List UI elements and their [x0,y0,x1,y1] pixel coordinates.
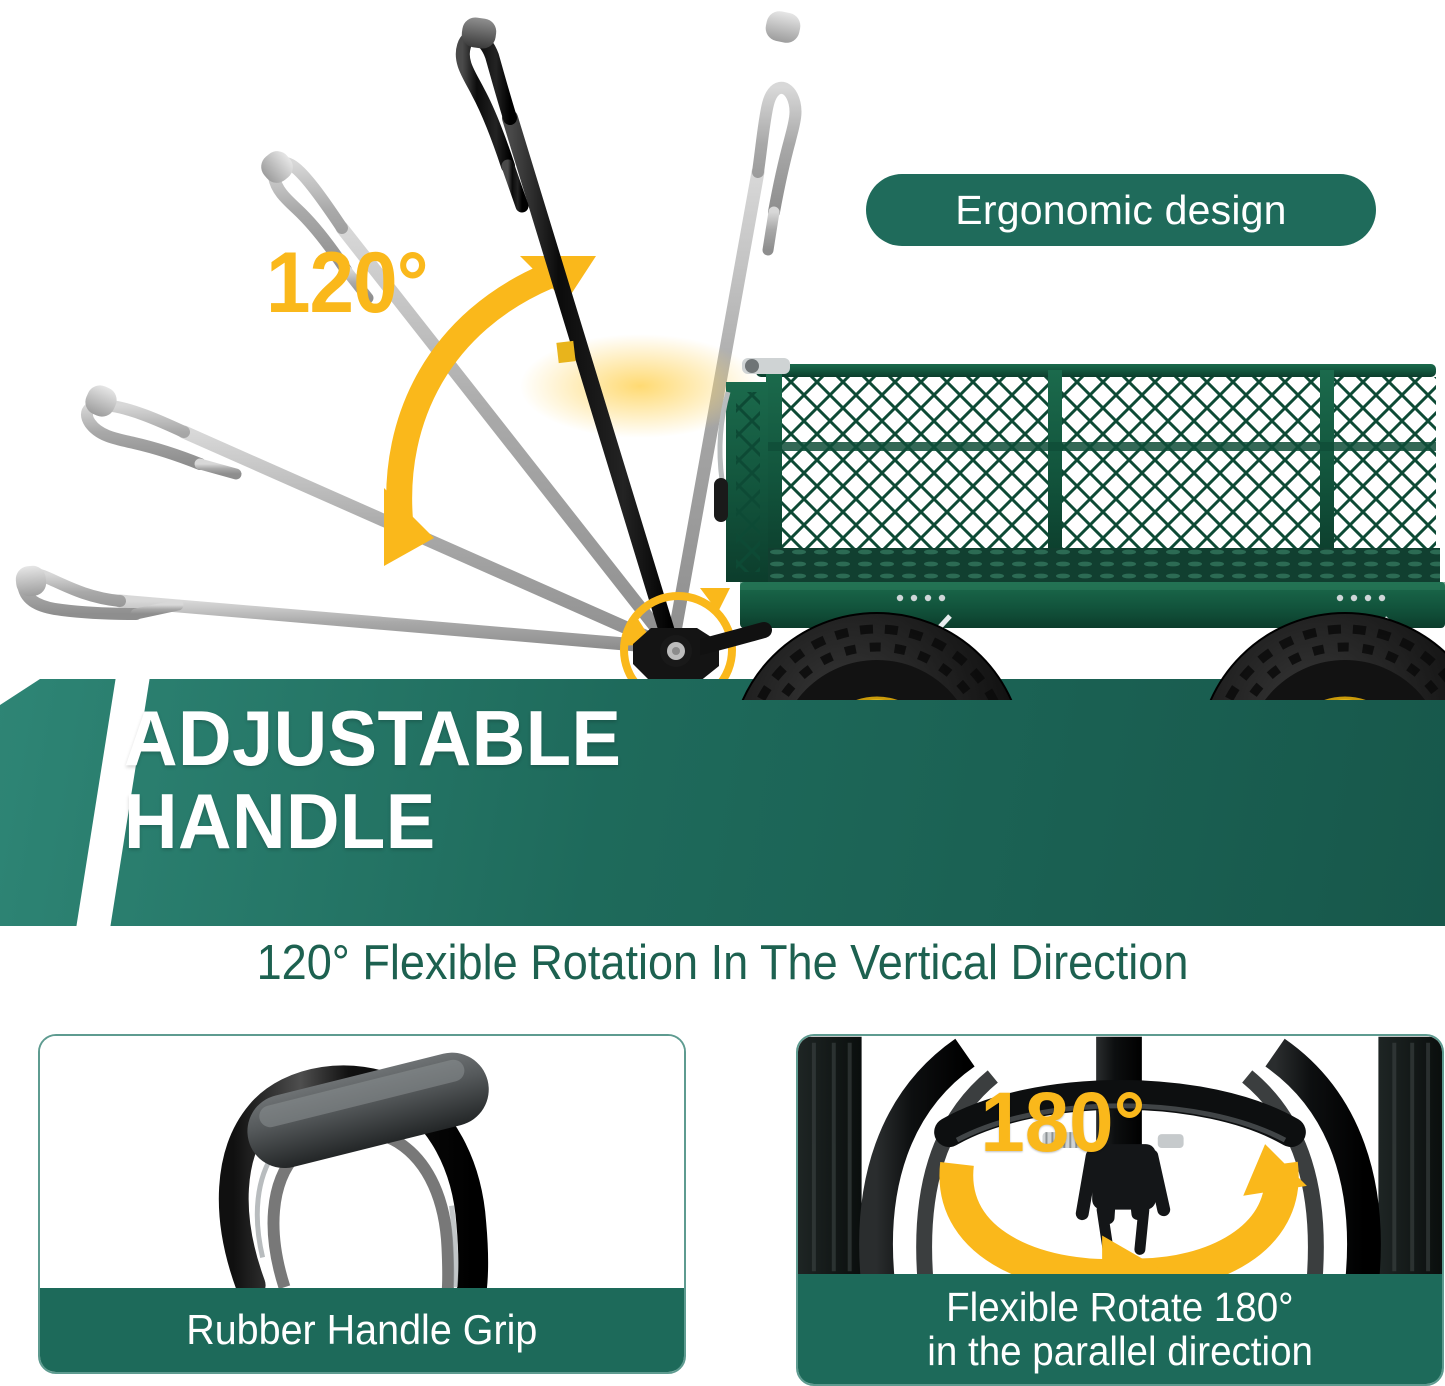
banner-title-line1: ADJUSTABLE [124,700,621,777]
card-flexible-rotate-180: 180° Flexible Rotate 180° in the paralle… [796,1034,1444,1386]
ergonomic-design-badge: Ergonomic design [866,174,1376,246]
wheel-front [730,613,1024,700]
cart-wheels [700,560,1445,700]
card-rubber-handle-grip: Rubber Handle Grip [38,1034,686,1374]
banner-title: ADJUSTABLE HANDLE [124,700,648,860]
card-left-caption-line1: Rubber Handle Grip [186,1306,537,1354]
card-right-caption-line2: in the parallel direction [927,1329,1313,1373]
handle-grip-photo [40,1036,684,1294]
product-infographic: 120° Ergonomic design [0,0,1445,1386]
angle-label-120: 120° [266,234,428,333]
subtitle-text: 120° Flexible Rotation In The Vertical D… [58,935,1387,991]
hero-illustration: 120° Ergonomic design [0,0,1445,700]
ergonomic-design-label: Ergonomic design [955,187,1286,234]
latch-pin [714,478,728,522]
banner-title-line2: HANDLE [124,783,621,860]
angle-label-180: 180° [980,1074,1145,1171]
tire-left-edge [798,1037,862,1278]
card-right-caption-line1: Flexible Rotate 180° [946,1285,1293,1329]
card-left-caption: Rubber Handle Grip [40,1288,684,1372]
handle-active [460,16,672,648]
cart-mesh-panel [772,377,1436,552]
card-right-caption: Flexible Rotate 180° in the parallel dir… [798,1274,1442,1384]
wheel-rear [1198,613,1445,700]
